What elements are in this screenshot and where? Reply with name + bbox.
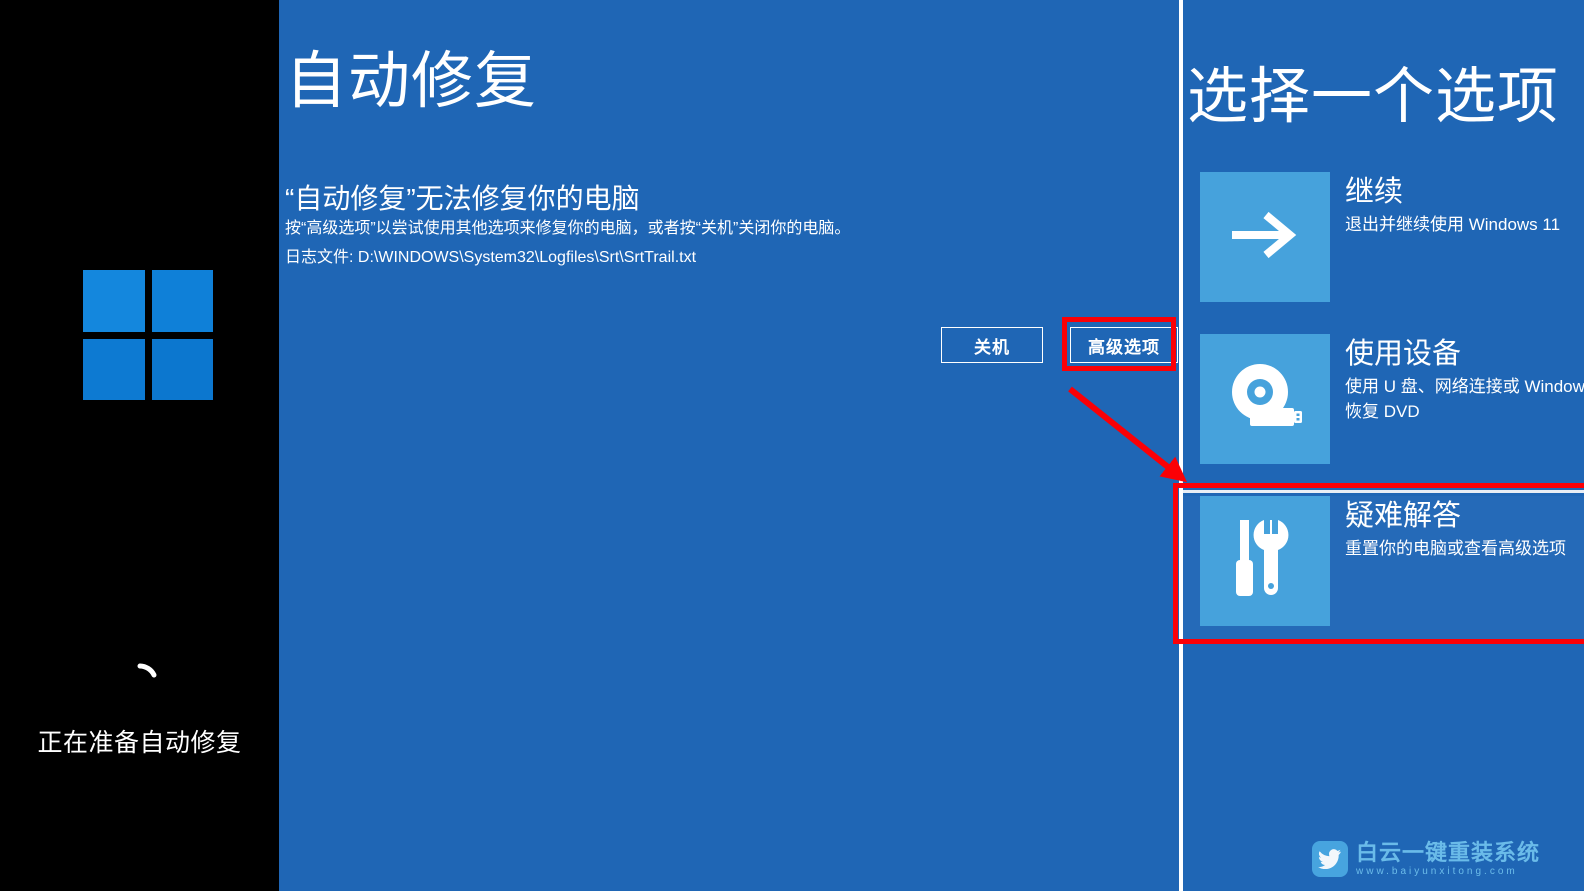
arrow-right-icon: [1228, 206, 1302, 269]
option-text-continue: 继续 退出并继续使用 Windows 11: [1345, 172, 1584, 238]
option-subtitle: 退出并继续使用 Windows 11: [1345, 213, 1584, 238]
repair-log-path: 日志文件: D:\WINDOWS\System32\Logfiles\Srt\S…: [285, 246, 696, 269]
option-title: 使用设备: [1345, 338, 1584, 371]
option-title: 继续: [1345, 176, 1584, 209]
bird-icon: [1312, 841, 1348, 877]
option-row-troubleshoot[interactable]: 疑难解答 重置你的电脑或查看高级选项: [1183, 496, 1584, 642]
screwdriver-wrench-icon: [1228, 516, 1302, 607]
logo-quadrant-top-right: [152, 270, 214, 332]
repair-description: 按“高级选项”以尝试使用其他选项来修复你的电脑，或者按“关机”关闭你的电脑。: [285, 217, 850, 240]
advanced-options-button[interactable]: 高级选项: [1070, 327, 1178, 363]
watermark-text: 白云一键重装系统 www.baiyunxitong.com: [1356, 842, 1540, 877]
choose-option-title: 选择一个选项: [1187, 46, 1559, 135]
option-tile-use-a-device: [1200, 334, 1330, 464]
boot-screen-panel: 正在准备自动修复: [0, 0, 279, 891]
option-row-continue[interactable]: 继续 退出并继续使用 Windows 11: [1183, 172, 1584, 318]
loading-spinner: [0, 660, 279, 709]
screen-root: 正在准备自动修复 自动修复 “自动修复”无法修复你的电脑 按“高级选项”以尝试使…: [0, 0, 1584, 891]
option-row-use-a-device[interactable]: 使用设备 使用 U 盘、网络连接或 Windows 恢复 DVD: [1183, 334, 1584, 480]
logo-quadrant-bottom-right: [152, 339, 214, 401]
shutdown-button[interactable]: 关机: [941, 327, 1043, 363]
page-title: 自动修复: [285, 48, 537, 116]
option-row-separator: [1183, 490, 1584, 493]
choose-an-option-panel: 选择一个选项 继续 退出并继续使用 Windows 11: [1183, 0, 1584, 891]
watermark: 白云一键重装系统 www.baiyunxitong.com: [1312, 841, 1540, 877]
logo-quadrant-top-left: [83, 270, 145, 332]
automatic-repair-panel: 自动修复 “自动修复”无法修复你的电脑 按“高级选项”以尝试使用其他选项来修复你…: [279, 0, 1179, 891]
logo-quadrant-bottom-left: [83, 339, 145, 401]
option-subtitle: 使用 U 盘、网络连接或 Windows 恢复 DVD: [1345, 375, 1584, 424]
disc-usb-device-icon: [1224, 360, 1306, 439]
repair-subtitle: “自动修复”无法修复你的电脑: [285, 177, 640, 217]
option-tile-troubleshoot: [1200, 496, 1330, 626]
watermark-url: www.baiyunxitong.com: [1356, 867, 1540, 877]
option-text-troubleshoot: 疑难解答 重置你的电脑或查看高级选项: [1345, 496, 1584, 562]
watermark-brand: 白云一键重装系统: [1356, 842, 1540, 864]
windows-11-logo: [83, 270, 213, 400]
option-subtitle: 重置你的电脑或查看高级选项: [1345, 537, 1584, 562]
option-text-use-a-device: 使用设备 使用 U 盘、网络连接或 Windows 恢复 DVD: [1345, 334, 1584, 425]
boot-status-text: 正在准备自动修复: [0, 723, 279, 759]
option-title: 疑难解答: [1345, 500, 1584, 533]
option-tile-continue: [1200, 172, 1330, 302]
